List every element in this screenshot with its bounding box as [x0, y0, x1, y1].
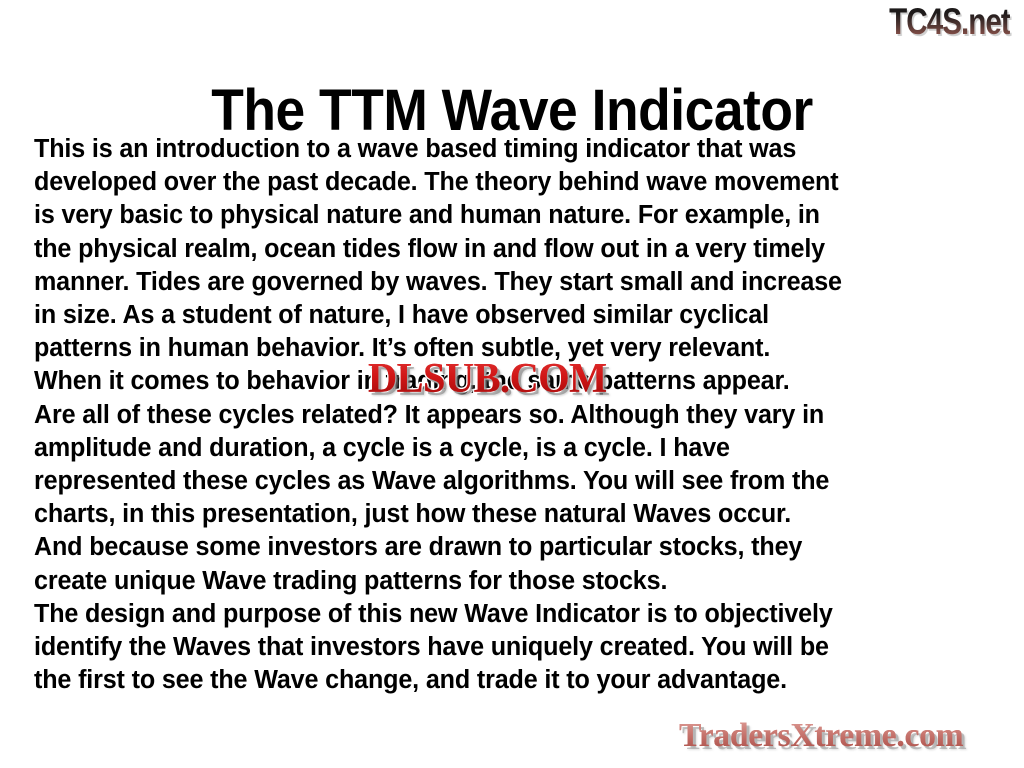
body-line: charts, in this presentation, just how t…	[34, 498, 982, 531]
tradersxtreme-logo: TradersXtreme.comTradersXtreme.com	[679, 717, 963, 755]
body-line: developed over the past decade. The theo…	[34, 166, 982, 199]
body-line: This is an introduction to a wave based …	[34, 133, 982, 166]
body-line: in size. As a student of nature, I have …	[34, 299, 982, 332]
body-line: Are all of these cycles related? It appe…	[34, 399, 982, 432]
body-line: And because some investors are drawn to …	[34, 531, 982, 564]
body-line: manner. Tides are governed by waves. The…	[34, 266, 982, 299]
body-line: identify the Waves that investors have u…	[34, 631, 982, 664]
body-line: The design and purpose of this new Wave …	[34, 598, 982, 631]
body-line: represented these cycles as Wave algorit…	[34, 465, 982, 498]
tc4s-logo: TC4S.net	[889, 2, 1010, 42]
body-line: the physical realm, ocean tides flow in …	[34, 233, 982, 266]
body-line: the first to see the Wave change, and tr…	[34, 664, 982, 697]
body-line: create unique Wave trading patterns for …	[34, 565, 982, 598]
dlsub-watermark-fill: DLSUB.COM	[368, 358, 607, 400]
body-line: is very basic to physical nature and hum…	[34, 199, 982, 232]
presentation-slide: TC4S.net The TTM Wave Indicator This is …	[0, 0, 1024, 768]
body-text: This is an introduction to a wave based …	[34, 133, 996, 697]
tradersxtreme-logo-fill: TradersXtreme.com	[679, 717, 963, 755]
dlsub-watermark: DLSUB.COMDLSUB.COM	[368, 358, 607, 400]
body-line: amplitude and duration, a cycle is a cyc…	[34, 432, 982, 465]
